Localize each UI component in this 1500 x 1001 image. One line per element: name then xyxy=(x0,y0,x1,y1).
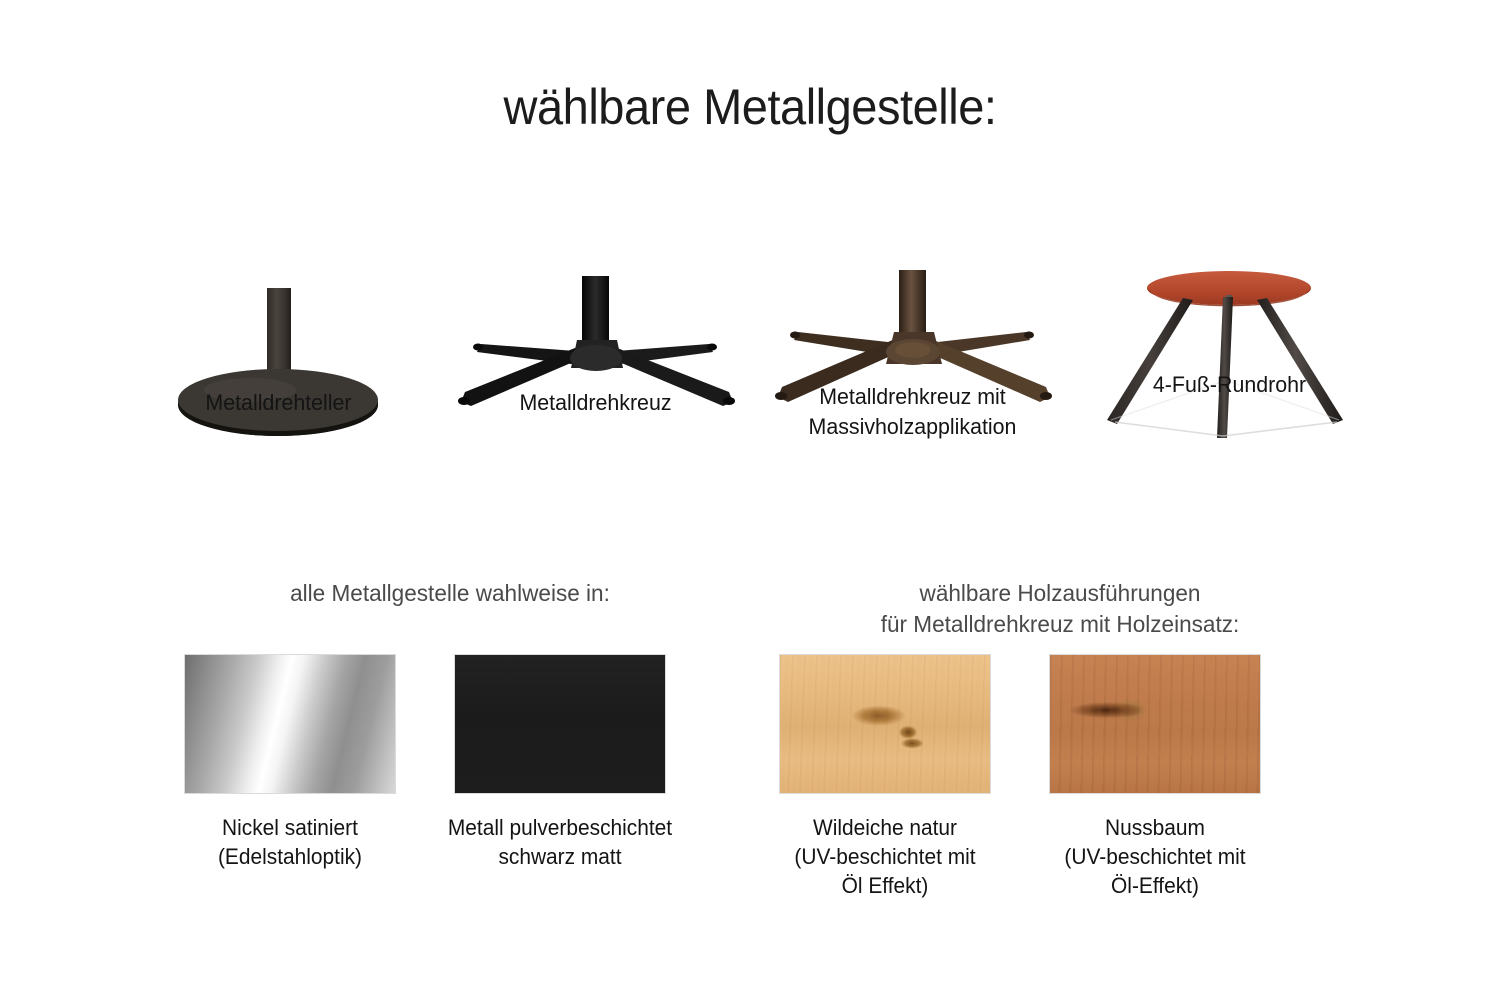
base-option-vier-fuss-rundrohr[interactable]: 4-Fuß-Rundrohr xyxy=(1071,210,1388,460)
round-disc-base-icon xyxy=(120,270,437,460)
swatch-caption: Metall pulverbeschichtet schwarz matt xyxy=(418,813,703,871)
metal-finishes-heading: alle Metallgestelle wahlweise in: xyxy=(162,578,738,609)
base-option-metalldrehkreuz[interactable]: Metalldrehkreuz xyxy=(437,210,754,460)
wildeiche-natur-swatch[interactable] xyxy=(780,655,990,793)
base-caption: 4-Fuß-Rundrohr xyxy=(1079,370,1380,400)
product-options-page: wählbare Metallgestelle: xyxy=(0,0,1500,1001)
swatch-caption-line3: Öl-Effekt) xyxy=(1013,871,1298,900)
base-caption: Metalldrehkreuz xyxy=(445,388,746,418)
nussbaum-swatch[interactable] xyxy=(1050,655,1260,793)
swatch-caption: Wildeiche natur (UV-beschichtet mit Öl E… xyxy=(743,813,1028,900)
swatch-caption-line1: Metall pulverbeschichtet xyxy=(418,813,703,842)
swatch-caption-line2: (Edelstahloptik) xyxy=(148,842,433,871)
four-star-cross-base-icon xyxy=(437,270,754,460)
finish-swatch-row: Nickel satiniert (Edelstahloptik) Metall… xyxy=(0,655,1500,955)
metal-finishes-heading-line1: alle Metallgestelle wahlweise in: xyxy=(162,578,738,609)
swatch-option-nickel-satiniert[interactable]: Nickel satiniert (Edelstahloptik) xyxy=(140,655,440,871)
schwarz-matt-swatch[interactable] xyxy=(455,655,665,793)
swatch-option-schwarz-matt[interactable]: Metall pulverbeschichtet schwarz matt xyxy=(410,655,710,871)
base-option-metalldrehteller[interactable]: Metalldrehteller xyxy=(120,210,437,460)
base-caption-line2: Massivholzapplikation xyxy=(762,412,1063,442)
swatch-option-wildeiche-natur[interactable]: Wildeiche natur (UV-beschichtet mit Öl E… xyxy=(735,655,1035,900)
base-option-metalldrehkreuz-holz[interactable]: Metalldrehkreuz mit Massivholzapplikatio… xyxy=(754,210,1071,460)
nickel-satiniert-swatch[interactable] xyxy=(185,655,395,793)
wood-finishes-heading-line1: wählbare Holzausführungen xyxy=(772,578,1348,609)
swatch-caption-line1: Wildeiche natur xyxy=(743,813,1028,842)
swatch-caption: Nickel satiniert (Edelstahloptik) xyxy=(148,813,433,871)
swatch-caption-line2: (UV-beschichtet mit xyxy=(1013,842,1298,871)
base-caption-line1: Metalldrehkreuz mit xyxy=(762,382,1063,412)
swatch-option-nussbaum[interactable]: Nussbaum (UV-beschichtet mit Öl-Effekt) xyxy=(1005,655,1305,900)
four-leg-round-tube-base-icon xyxy=(1071,270,1388,460)
swatch-caption-line1: Nickel satiniert xyxy=(148,813,433,842)
swatch-caption-line2: schwarz matt xyxy=(418,842,703,871)
swatch-caption-line2: (UV-beschichtet mit xyxy=(743,842,1028,871)
swatch-caption: Nussbaum (UV-beschichtet mit Öl-Effekt) xyxy=(1013,813,1298,900)
swatch-caption-line1: Nussbaum xyxy=(1013,813,1298,842)
base-caption: Metalldrehteller xyxy=(128,388,429,418)
wood-finishes-heading: wählbare Holzausführungen für Metalldreh… xyxy=(772,578,1348,640)
wood-finishes-heading-line2: für Metalldrehkreuz mit Holzeinsatz: xyxy=(772,609,1348,640)
page-title: wählbare Metallgestelle: xyxy=(45,78,1455,136)
metal-base-options-row: Metalldrehteller xyxy=(120,210,1390,460)
swatch-caption-line3: Öl Effekt) xyxy=(743,871,1028,900)
